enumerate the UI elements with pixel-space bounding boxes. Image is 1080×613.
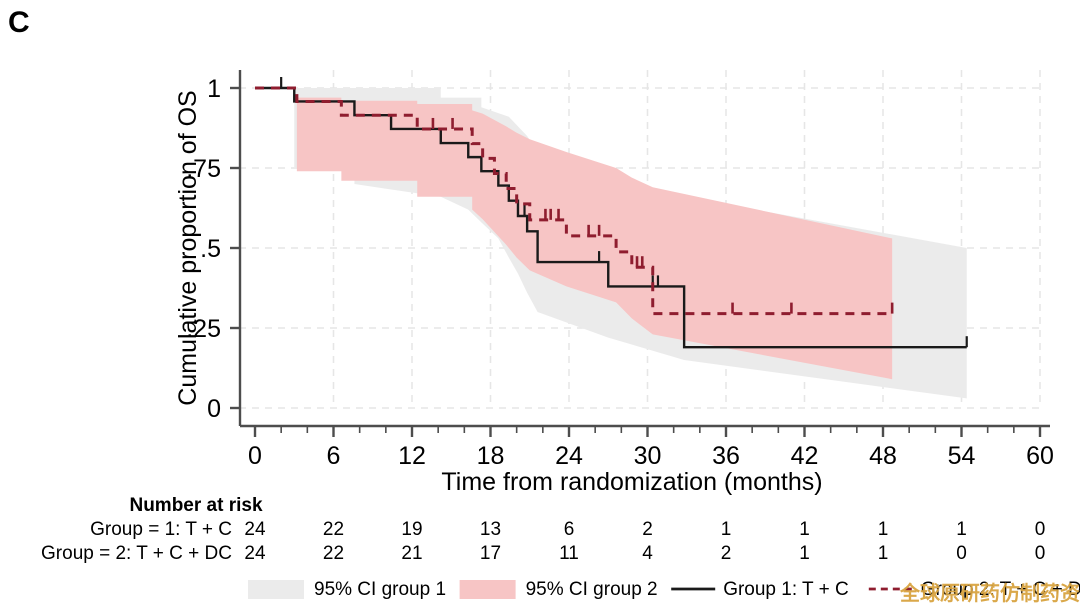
risk-cell: 4 — [642, 543, 653, 564]
x-tick-label: 60 — [1026, 442, 1054, 470]
x-tick-label: 48 — [869, 442, 897, 470]
risk-cell: 1 — [799, 519, 810, 540]
risk-cell: 0 — [956, 543, 967, 564]
legend-label: 95% CI group 1 — [314, 579, 446, 600]
risk-cell: 1 — [956, 519, 967, 540]
risk-cell: 11 — [559, 543, 579, 564]
x-tick-label: 6 — [327, 442, 341, 470]
risk-cell: 22 — [323, 519, 344, 540]
x-tick-label: 24 — [555, 442, 583, 470]
legend-label: Group 1: T + C — [723, 579, 849, 600]
risk-cell: 19 — [401, 519, 422, 540]
risk-cell: 24 — [244, 543, 266, 564]
kaplan-meier-chart: 061218243036424854600.25.5.751 Time from… — [0, 0, 1080, 613]
risk-cell: 13 — [480, 519, 501, 540]
risk-cell: 1 — [878, 519, 889, 540]
x-tick-label: 30 — [634, 442, 662, 470]
x-tick-label: 18 — [477, 442, 505, 470]
y-axis-title: Cumulative proportion of OS — [174, 90, 202, 405]
watermark: 全球原研药仿制药资讯 — [899, 581, 1080, 605]
y-tick-label: .5 — [200, 235, 221, 263]
risk-cell: 21 — [401, 543, 422, 564]
x-tick-label: 54 — [948, 442, 976, 470]
y-tick-label: 0 — [207, 395, 221, 423]
risk-cell: 24 — [244, 519, 266, 540]
legend-item-1: 95% CI group 1 — [248, 579, 446, 600]
risk-row-label: Group = 2: T + C + DC — [41, 543, 232, 564]
x-tick-label: 42 — [791, 442, 819, 470]
risk-cell: 2 — [721, 543, 732, 564]
x-tick-label: 36 — [712, 442, 740, 470]
risk-row-label: Group = 1: T + C — [90, 519, 232, 540]
y-tick-label: 1 — [207, 75, 221, 103]
risk-cell: 1 — [878, 543, 889, 564]
risk-cell: 6 — [564, 519, 575, 540]
risk-cell: 17 — [480, 543, 501, 564]
confidence-bands — [255, 88, 967, 398]
x-axis-title: Time from randomization (months) — [441, 468, 822, 496]
risk-cell: 1 — [721, 519, 732, 540]
band-pink-swatch — [460, 580, 516, 599]
legend-item-2: 95% CI group 2 — [460, 579, 658, 600]
x-tick-label: 12 — [398, 442, 426, 470]
legend-item-3: Group 1: T + C — [671, 579, 849, 600]
legend-label: 95% CI group 2 — [526, 579, 658, 600]
x-tick-label: 0 — [248, 442, 262, 470]
confidence-band-group-2 — [255, 88, 892, 379]
number-at-risk-table: Number at riskGroup = 1: T + C2422191362… — [41, 495, 1045, 564]
risk-cell: 2 — [642, 519, 653, 540]
risk-cell: 1 — [799, 543, 810, 564]
risk-cell: 0 — [1035, 543, 1046, 564]
risk-table-title: Number at risk — [129, 495, 262, 516]
band-gray-swatch — [248, 580, 304, 599]
risk-cell: 0 — [1035, 519, 1046, 540]
risk-cell: 22 — [323, 543, 344, 564]
